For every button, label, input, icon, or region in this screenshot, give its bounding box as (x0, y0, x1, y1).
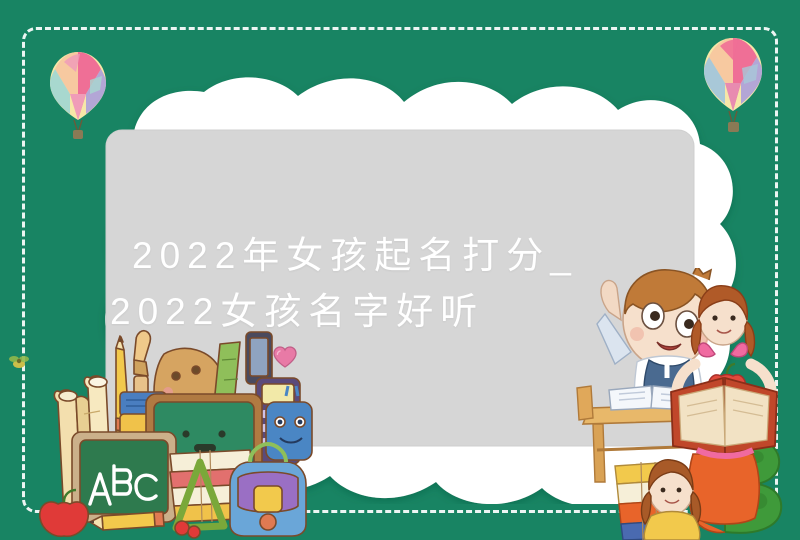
girl-with-books (615, 460, 700, 540)
school-supplies-illustration (24, 326, 334, 540)
hot-air-balloon-icon-left (46, 50, 110, 154)
poster-canvas: 2022年女孩起名打分_ 2022女孩名字好听 (0, 0, 800, 540)
classroom-kids-illustration (575, 268, 800, 540)
hot-air-balloon-icon-right (700, 36, 766, 146)
